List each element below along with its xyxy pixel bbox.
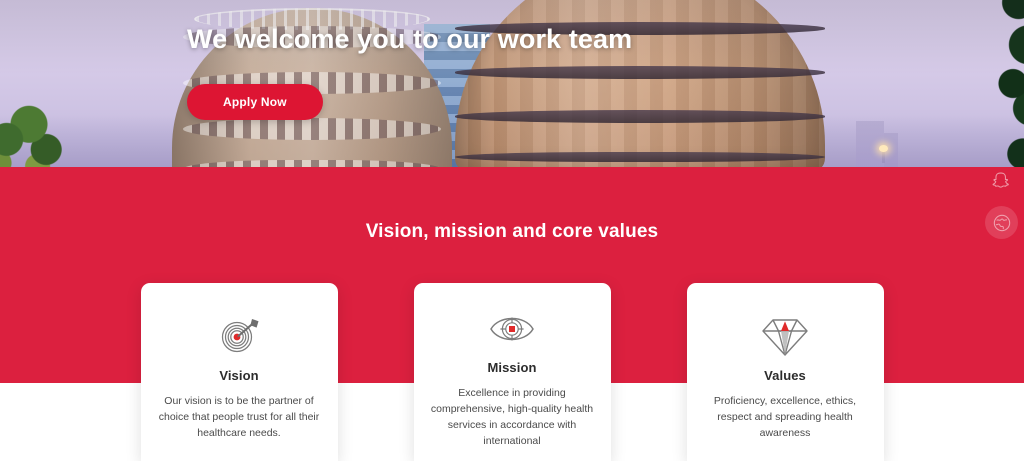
snapchat-ghost-icon[interactable]	[985, 164, 1018, 197]
target-icon	[213, 314, 265, 358]
floating-side-icons	[985, 164, 1018, 239]
card-title: Values	[764, 368, 806, 383]
card-text: Proficiency, excellence, ethics, respect…	[700, 394, 871, 442]
globe-glyph	[992, 213, 1012, 233]
card-mission[interactable]: Mission Excellence in providing comprehe…	[414, 283, 611, 461]
card-vision[interactable]: Vision Our vision is to be the partner o…	[141, 283, 338, 461]
value-cards-row: Vision Our vision is to be the partner o…	[0, 283, 1024, 461]
diamond-icon	[759, 314, 811, 358]
apply-now-button[interactable]: Apply Now	[187, 84, 323, 120]
hero-content: We welcome you to our work team Apply No…	[187, 24, 887, 120]
eye-target-icon	[486, 306, 538, 350]
page-root: We welcome you to our work team Apply No…	[0, 0, 1024, 461]
card-title: Vision	[219, 368, 258, 383]
card-text: Excellence in providing comprehensive, h…	[427, 386, 598, 450]
globe-icon[interactable]	[985, 206, 1018, 239]
card-text: Our vision is to be the partner of choic…	[154, 394, 325, 442]
snapchat-ghost-glyph	[992, 171, 1011, 190]
card-title: Mission	[487, 360, 536, 375]
card-values[interactable]: Values Proficiency, excellence, ethics, …	[687, 283, 884, 461]
hero-banner: We welcome you to our work team Apply No…	[0, 0, 1024, 167]
hero-title: We welcome you to our work team	[187, 24, 887, 55]
section-title: Vision, mission and core values	[0, 221, 1024, 243]
